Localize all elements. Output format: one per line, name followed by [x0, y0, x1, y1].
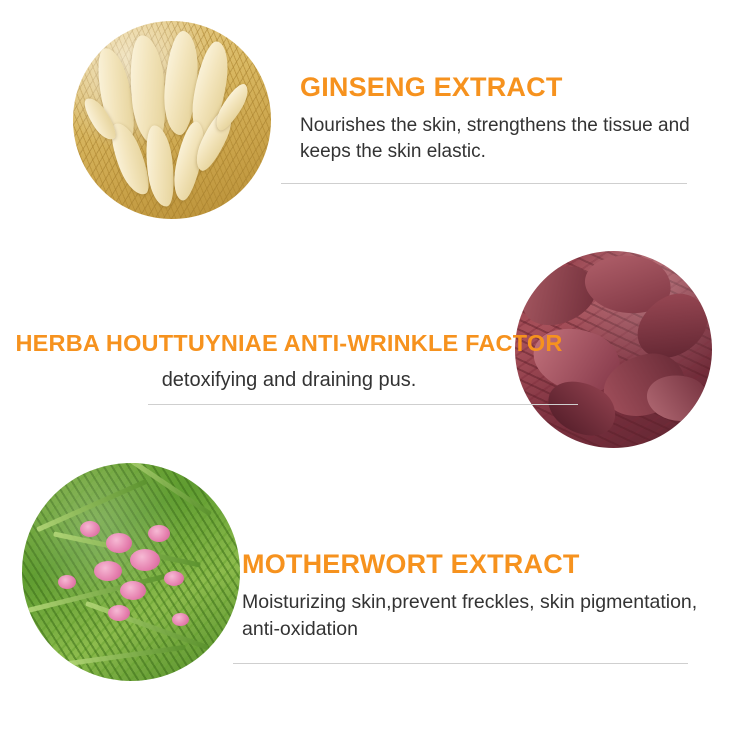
- section-motherwort: MOTHERWORT EXTRACT Moisturizing skin,pre…: [0, 455, 750, 695]
- herba-text-block: HERBA HOUTTUYNIAE ANTI-WRINKLE FACTOR de…: [0, 330, 578, 395]
- ginseng-root-photo: [73, 21, 271, 219]
- ginseng-description: Nourishes the skin, strengthens the tiss…: [300, 113, 690, 165]
- motherwort-text-block: MOTHERWORT EXTRACT Moisturizing skin,pre…: [242, 549, 702, 643]
- herba-divider: [148, 404, 578, 405]
- motherwort-plant-photo: [22, 463, 240, 681]
- ingredient-infographic: GINSENG EXTRACT Nourishes the skin, stre…: [0, 0, 750, 750]
- section-ginseng: GINSENG EXTRACT Nourishes the skin, stre…: [0, 0, 750, 240]
- herba-description: detoxifying and draining pus.: [0, 367, 578, 395]
- ginseng-heading: GINSENG EXTRACT: [300, 72, 700, 103]
- ginseng-divider: [281, 183, 687, 184]
- section-herba-houttuyniae: HERBA HOUTTUYNIAE ANTI-WRINKLE FACTOR de…: [0, 240, 750, 455]
- ginseng-text-block: GINSENG EXTRACT Nourishes the skin, stre…: [300, 72, 700, 165]
- motherwort-heading: MOTHERWORT EXTRACT: [242, 549, 702, 580]
- motherwort-divider: [233, 663, 688, 664]
- herba-heading: HERBA HOUTTUYNIAE ANTI-WRINKLE FACTOR: [0, 330, 578, 357]
- motherwort-description: Moisturizing skin,prevent freckles, skin…: [242, 589, 702, 643]
